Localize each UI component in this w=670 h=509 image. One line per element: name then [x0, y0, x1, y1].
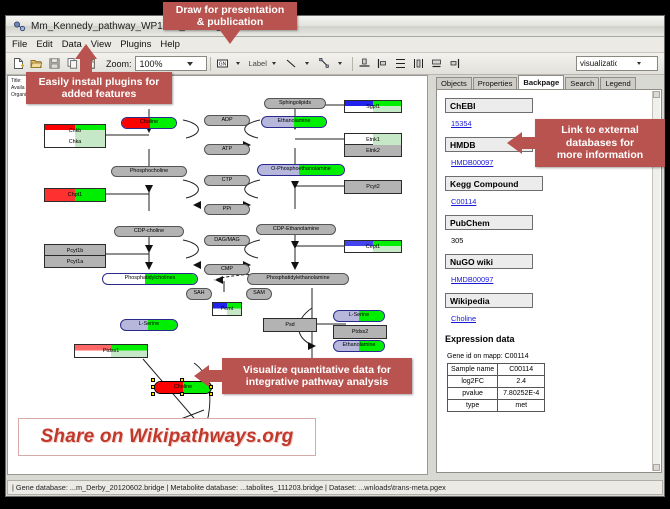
chevron-down-icon[interactable]	[171, 57, 206, 70]
label-tool-label: Label	[249, 59, 267, 68]
datanode-icon[interactable]: GN	[214, 55, 231, 72]
selection-handle[interactable]	[151, 392, 155, 396]
table-row: log2FC 2.4	[448, 376, 545, 388]
callout-plugins: Easily install plugins for added feature…	[26, 72, 172, 104]
cell-value: met	[498, 400, 545, 412]
callout-visualize-arrow	[194, 365, 209, 387]
gene-cept1[interactable]: Cept1	[344, 240, 402, 253]
callout-link-stem	[521, 137, 537, 149]
tab-properties[interactable]: Properties	[473, 77, 518, 89]
expression-data-title: Expression data	[445, 334, 653, 344]
db-header-pubchem: PubChem	[445, 215, 533, 230]
chevron-down-icon[interactable]	[334, 57, 347, 70]
selection-handle[interactable]	[209, 385, 213, 389]
toolbar-separator	[210, 57, 211, 71]
selection-handle[interactable]	[209, 392, 213, 396]
pathway-canvas[interactable]: Title: Availa Organi	[7, 75, 428, 475]
screenshot-root: Mm_Kennedy_pathway_WP1771_45176.gpml Fil…	[0, 0, 670, 509]
menu-file[interactable]: File	[12, 39, 27, 50]
distribute-vertical-icon[interactable]	[392, 55, 409, 72]
selection-handle[interactable]	[180, 392, 184, 396]
db-link-wikipedia[interactable]: Choline	[451, 314, 476, 323]
save-icon[interactable]	[46, 55, 63, 72]
zoom-label: Zoom:	[106, 59, 132, 69]
node-ppi[interactable]: PPi	[204, 204, 250, 215]
datanode-tool[interactable]: GN	[214, 55, 245, 72]
db-header-kegg: Kegg Compound	[445, 176, 543, 191]
gene-ptdss2[interactable]: Ptdss2	[333, 325, 387, 339]
tab-legend[interactable]: Legend	[600, 77, 635, 89]
gene-chka[interactable]: Chka	[44, 135, 106, 148]
selection-handle[interactable]	[180, 378, 184, 382]
chevron-down-icon[interactable]	[617, 57, 657, 70]
open-folder-icon[interactable]	[28, 55, 45, 72]
line-icon[interactable]	[283, 55, 300, 72]
distribute-horizontal-icon[interactable]	[410, 55, 427, 72]
zoom-value: 100%	[136, 59, 171, 69]
node-phosphatidylcholines[interactable]: Phosphatidylcholines	[102, 273, 198, 285]
anchor-icon[interactable]	[316, 55, 333, 72]
menu-bar[interactable]: File Edit Data View Plugins Help	[6, 37, 664, 53]
new-file-icon[interactable]	[10, 55, 27, 72]
svg-text:GN: GN	[218, 61, 226, 67]
node-sah[interactable]: SAH	[186, 288, 212, 300]
db-header-wikipedia: Wikipedia	[445, 293, 533, 308]
visualization-combo[interactable]: visualization	[576, 56, 658, 71]
gene-psd[interactable]: Psd	[263, 318, 317, 332]
node-dagmag[interactable]: DAG/MAG	[204, 235, 250, 246]
align-center-icon[interactable]	[428, 55, 445, 72]
scroll-up-button[interactable]	[653, 91, 660, 98]
gene-sgpl1[interactable]: Sgpl1	[344, 100, 402, 113]
callout-link: Link to external databases for more info…	[535, 119, 665, 167]
db-header-chebi: ChEBI	[445, 98, 533, 113]
label-tool[interactable]: Label	[247, 57, 281, 70]
gene-chpt1[interactable]: Chpt1	[44, 188, 106, 202]
cell-key: Sample name	[448, 364, 498, 376]
db-link-nugo[interactable]: HMDB00097	[451, 275, 493, 284]
tab-backpage[interactable]: Backpage	[518, 75, 564, 89]
cell-key: log2FC	[448, 376, 498, 388]
node-cdp-choline[interactable]: CDP-choline	[114, 226, 184, 237]
gene-ptdss1[interactable]: Ptdss1	[74, 344, 148, 358]
db-link-chebi[interactable]: 15354	[451, 119, 472, 128]
tab-search[interactable]: Search	[565, 77, 599, 89]
tab-objects[interactable]: Objects	[436, 77, 472, 89]
node-phosphocholine[interactable]: Phosphocholine	[111, 166, 187, 177]
db-link-kegg[interactable]: C00114	[451, 197, 476, 206]
menu-help[interactable]: Help	[160, 39, 180, 50]
panel-tabs[interactable]: Objects Properties Backpage Search Legen…	[436, 75, 662, 89]
expression-table: Sample name C00114 log2FC 2.4 pvalue 7.8…	[447, 363, 545, 412]
align-left-icon[interactable]	[374, 55, 391, 72]
visualization-value: visualization	[577, 59, 617, 68]
callout-link-arrow	[507, 132, 522, 154]
node-l-serine-left[interactable]: L-Serine	[120, 319, 178, 331]
chevron-down-icon[interactable]	[232, 57, 245, 70]
callout-plugins-arrow	[75, 44, 97, 59]
line-tool[interactable]	[283, 55, 314, 72]
selection-handle[interactable]	[151, 378, 155, 382]
callout-draw-arrow	[219, 29, 241, 44]
status-bar: | Gene database: ...m_Derby_20120602.bri…	[7, 480, 663, 495]
node-adp[interactable]: ADP	[204, 115, 250, 126]
node-cdp-ethanolamine[interactable]: CDP-Ethanolamine	[256, 224, 336, 235]
title-bar: Mm_Kennedy_pathway_WP1771_45176.gpml	[6, 16, 664, 37]
gene-etnk2[interactable]: Etnk2	[344, 144, 402, 157]
node-sphingolipids[interactable]: Sphingolipids	[264, 98, 326, 109]
share-banner: Share on Wikipathways.org	[18, 418, 316, 456]
chevron-down-icon[interactable]	[301, 57, 314, 70]
cell-value: C00114	[498, 364, 545, 376]
selection-handle[interactable]	[151, 385, 155, 389]
menu-plugins[interactable]: Plugins	[120, 39, 151, 50]
node-o-phosphoethanolamine[interactable]: O-Phosphoethanolamine	[257, 164, 345, 176]
db-header-nugo: NuGO wiki	[445, 254, 533, 269]
db-link-hmdb[interactable]: HMDB00097	[451, 158, 493, 167]
gene-id-on-mapp: Gene id on mapp: C00114	[447, 353, 653, 360]
node-ethanolamine-bottom[interactable]: Ethanolamine	[333, 340, 385, 352]
cell-value: 2.4	[498, 376, 545, 388]
scroll-down-button[interactable]	[653, 464, 660, 471]
node-ethanolamine[interactable]: Ethanolamine	[261, 116, 327, 128]
table-row: Sample name C00114	[448, 364, 545, 376]
node-choline-top[interactable]: Choline	[121, 117, 177, 129]
callout-visualize: Visualize quantitative data for integrat…	[222, 358, 412, 394]
callout-visualize-stem	[208, 370, 224, 382]
node-ctp[interactable]: CTP	[204, 175, 250, 186]
node-cmp[interactable]: CMP	[204, 264, 250, 275]
table-row: pvalue 7.80252E-4	[448, 388, 545, 400]
node-sam[interactable]: SAM	[246, 288, 272, 300]
node-atp[interactable]: ATP	[204, 144, 250, 155]
callout-plugins-stem	[80, 57, 92, 74]
align-bottom-icon[interactable]	[356, 55, 373, 72]
cell-key: type	[448, 400, 498, 412]
gene-pemt[interactable]: Pemt	[212, 302, 242, 316]
node-phosphatidylethanolamine[interactable]: Phosphatidylethanolamine	[247, 273, 349, 285]
callout-draw: Draw for presentation & publication	[163, 2, 297, 30]
align-right-icon[interactable]	[446, 55, 463, 72]
cell-key: pvalue	[448, 388, 498, 400]
gene-pcyt1a[interactable]: Pcyt1a	[44, 255, 106, 268]
db-value-pubchem: 305	[451, 236, 463, 245]
status-text: | Gene database: ...m_Derby_20120602.bri…	[12, 483, 446, 492]
node-l-serine-right[interactable]: L-Serine	[333, 310, 385, 322]
anchor-tool[interactable]	[316, 55, 347, 72]
zoom-combo[interactable]: 100%	[135, 56, 207, 71]
chevron-down-icon[interactable]	[268, 57, 281, 70]
cell-value: 7.80252E-4	[498, 388, 545, 400]
menu-edit[interactable]: Edit	[36, 39, 52, 50]
toolbar-separator	[352, 57, 353, 71]
share-text: Share on Wikipathways.org	[41, 426, 294, 448]
pathvisio-icon	[13, 20, 26, 33]
gene-pcyt2[interactable]: Pcyt2	[344, 180, 402, 194]
table-row: type met	[448, 400, 545, 412]
